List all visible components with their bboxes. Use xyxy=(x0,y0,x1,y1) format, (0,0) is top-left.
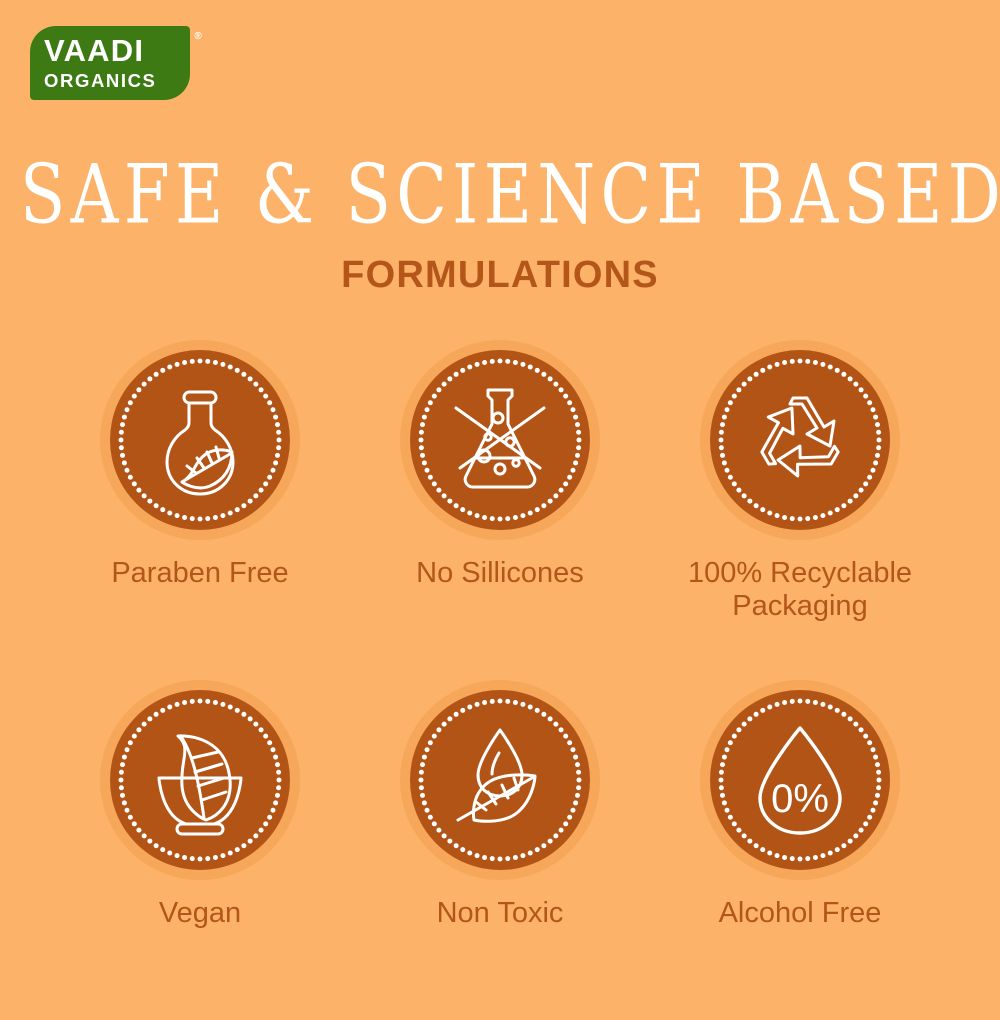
badge-medallion xyxy=(400,680,600,880)
recycle-icon xyxy=(740,380,860,500)
badge-disc xyxy=(110,690,290,870)
page-title: SAFE & SCIENCE BASED xyxy=(20,155,980,236)
badge-label: Alcohol Free xyxy=(719,897,882,930)
brand-tagline: ORGANICS xyxy=(44,72,190,91)
brand-name-text: VAADI xyxy=(44,33,144,68)
badge-non-toxic[interactable]: Non Toxic xyxy=(350,680,650,1020)
badge-label: Non Toxic xyxy=(437,897,564,930)
badge-disc xyxy=(410,690,590,870)
mortar-bowl-with-leaf-icon xyxy=(140,720,260,840)
droplet-on-leaf-icon xyxy=(440,720,560,840)
zero-percent-droplet-icon: 0% xyxy=(740,720,860,840)
badge-label: No Sillicones xyxy=(416,557,584,590)
badge-disc xyxy=(710,350,890,530)
badge-vegan[interactable]: Vegan xyxy=(50,680,350,1020)
crossed-out-flask-icon xyxy=(440,380,560,500)
badge-label: 100% RecyclablePackaging xyxy=(688,557,912,623)
badge-no-sillicones[interactable]: No Sillicones xyxy=(350,340,650,680)
badge-medallion xyxy=(400,340,600,540)
badge-label: Paraben Free xyxy=(111,557,288,590)
badge-disc xyxy=(110,350,290,530)
badge-grid: Paraben Free No Sillicone xyxy=(50,340,950,1020)
badge-paraben-free[interactable]: Paraben Free xyxy=(50,340,350,680)
badge-alcohol-free[interactable]: 0% Alcohol Free xyxy=(650,680,950,1020)
flask-with-leaf-icon xyxy=(140,380,260,500)
badge-medallion xyxy=(100,340,300,540)
badge-disc xyxy=(410,350,590,530)
badge-medallion: 0% xyxy=(700,680,900,880)
badge-disc: 0% xyxy=(710,690,890,870)
headline-block: SAFE & SCIENCE BASED FORMULATIONS xyxy=(0,155,1000,294)
zero-percent-label: 0% xyxy=(771,777,829,821)
badge-medallion xyxy=(100,680,300,880)
brand-logo[interactable]: VAADI® ORGANICS xyxy=(30,26,190,100)
page-subtitle: FORMULATIONS xyxy=(0,256,1000,294)
badge-recyclable-packaging[interactable]: 100% RecyclablePackaging xyxy=(650,340,950,680)
badge-label: Vegan xyxy=(159,897,241,930)
brand-name: VAADI® xyxy=(44,35,190,66)
registered-trademark-icon: ® xyxy=(194,32,203,42)
badge-medallion xyxy=(700,340,900,540)
